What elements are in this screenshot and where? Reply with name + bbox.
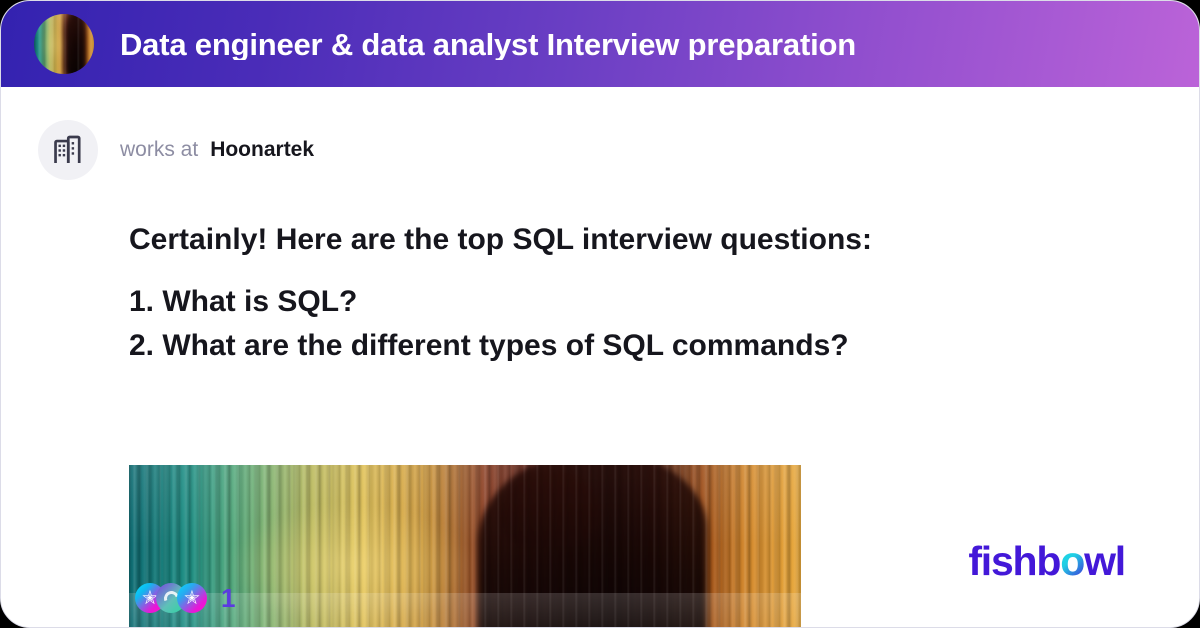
post-line-1: Certainly! Here are the top SQL intervie… bbox=[129, 218, 1089, 262]
fishbowl-logo: fishbowl bbox=[968, 541, 1125, 582]
post-line-2: 1. What is SQL? bbox=[129, 280, 1089, 324]
fishbowl-logo-part3: wl bbox=[1084, 538, 1125, 584]
fishbowl-logo-part1: fishb bbox=[968, 538, 1060, 584]
fishbowl-logo-accent-o: o bbox=[1060, 538, 1084, 584]
post-line-3: 2. What are the different types of SQL c… bbox=[129, 324, 1089, 368]
company-badge bbox=[38, 120, 98, 180]
author-meta: works at Hoonartek bbox=[120, 138, 314, 162]
reaction-count: 1 bbox=[221, 585, 235, 611]
star-reaction-icon-2[interactable]: ✭ bbox=[177, 583, 207, 613]
author-row: works at Hoonartek bbox=[1, 87, 1199, 180]
avatar bbox=[34, 14, 94, 74]
card-header: Data engineer & data analyst Interview p… bbox=[1, 1, 1199, 87]
reactions-group[interactable]: ✭ ✭ 1 bbox=[135, 583, 235, 613]
star-glyph-2: ✭ bbox=[184, 589, 200, 608]
reaction-badge-stack[interactable]: ✭ ✭ bbox=[135, 583, 207, 613]
post-spacer bbox=[129, 262, 1089, 280]
works-at-label: works at bbox=[120, 138, 198, 162]
card-body: works at Hoonartek Certainly! Here are t… bbox=[1, 87, 1199, 628]
page-title: Data engineer & data analyst Interview p… bbox=[120, 29, 856, 60]
company-name[interactable]: Hoonartek bbox=[210, 138, 314, 162]
avatar-art-streaks bbox=[34, 14, 94, 74]
post-body-text: Certainly! Here are the top SQL intervie… bbox=[129, 218, 1089, 368]
post-card: Data engineer & data analyst Interview p… bbox=[0, 0, 1200, 628]
company-building-icon bbox=[51, 133, 85, 167]
embedded-link-preview[interactable]: ✭ ✭ 1 Data engineer & data analyst bbox=[129, 465, 801, 628]
